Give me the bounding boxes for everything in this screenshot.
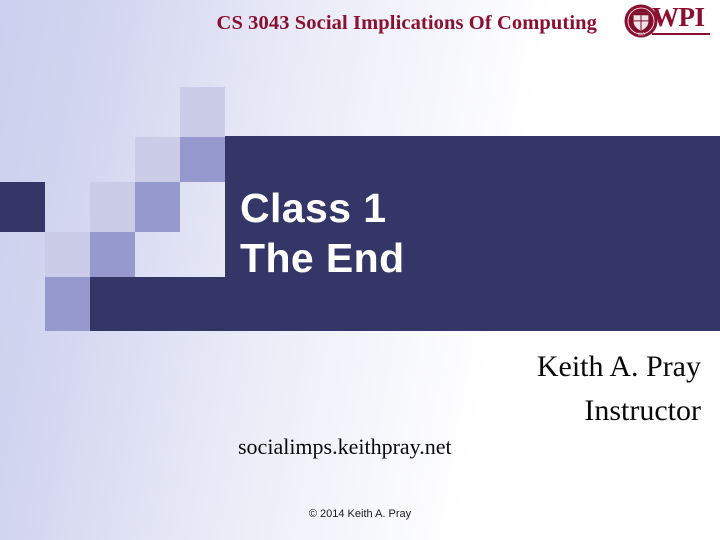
course-website-url[interactable]: socialimps.keithpray.net [238, 434, 452, 460]
sq-r2-c4 [180, 137, 225, 182]
sq-r1-c4 [180, 87, 225, 137]
slide-title-block: Class 1 The End [240, 183, 670, 283]
svg-text:1865: 1865 [637, 32, 644, 36]
course-title: CS 3043 Social Implications Of Computing [217, 11, 597, 34]
sq-r5-c1 [45, 277, 90, 331]
sq-r2-c3 [135, 137, 180, 182]
presentation-slide: CS 3043 Social Implications Of Computing… [0, 0, 720, 540]
title-band-lower [90, 277, 225, 331]
instructor-name: Keith A. Pray [201, 345, 701, 389]
instructor-role: Instructor [201, 389, 701, 433]
slide-title-line-1: Class 1 [240, 183, 670, 233]
slide-byline: Keith A. Pray Instructor [201, 345, 701, 433]
wpi-wordmark-text: WPI [652, 3, 712, 31]
copyright-notice: © 2014 Keith A. Pray [0, 508, 720, 520]
slide-title-line-2: The End [240, 233, 670, 283]
sq-r3-c3 [135, 182, 180, 232]
wpi-wordmark: WPI [652, 3, 712, 41]
sq-r4-c1 [45, 232, 90, 277]
sq-r4-c2 [90, 232, 135, 277]
wpi-logo: 1865 WPI [622, 3, 712, 41]
slide-header: CS 3043 Social Implications Of Computing… [0, 0, 720, 44]
sq-r3-c2 [90, 182, 135, 232]
wpi-underline-rule [652, 33, 710, 35]
sq-r3-c0 [0, 182, 45, 232]
